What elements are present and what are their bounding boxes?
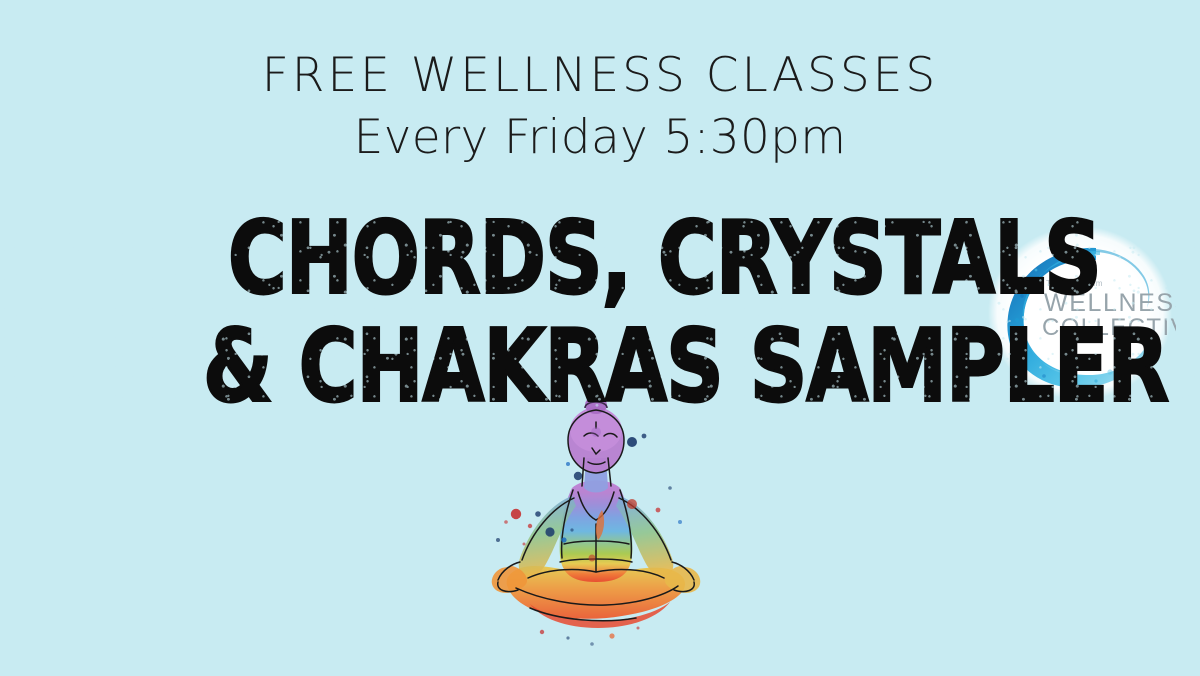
logo-name-line-2: COLLECTIVE (1042, 314, 1176, 341)
promotional-poster: FREE WELLNESS CLASSES Every Friday 5:30p… (0, 0, 1200, 676)
headline-secondary: Every Friday 5:30pm (0, 114, 1200, 161)
meditating-figure-illustration (472, 392, 720, 650)
headline-primary: FREE WELLNESS CLASSES (0, 52, 1200, 99)
logo-prefix-text: The New Ulm (1046, 279, 1103, 288)
wellness-collective-logo: The New Ulm WELLNESS COLLECTIVE (984, 224, 1176, 402)
header-text-block: FREE WELLNESS CLASSES Every Friday 5:30p… (0, 52, 1200, 161)
logo-name-line-1: WELLNESS (1044, 289, 1176, 317)
